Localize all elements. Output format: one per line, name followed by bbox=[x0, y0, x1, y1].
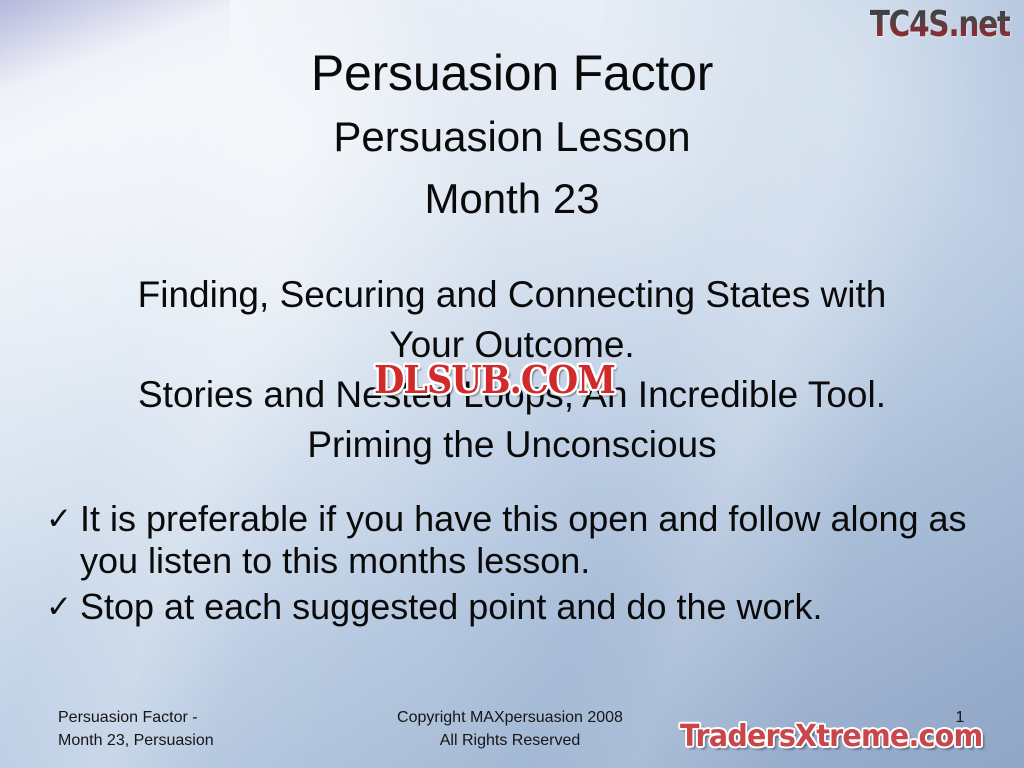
footer-copyright: Copyright MAXpersuasion 2008 All Rights … bbox=[330, 706, 690, 752]
list-item: ✓ It is preferable if you have this open… bbox=[46, 498, 996, 582]
list-item-label: It is preferable if you have this open a… bbox=[80, 498, 996, 582]
check-mark-icon: ✓ bbox=[46, 498, 80, 540]
title-line-3: Month 23 bbox=[0, 168, 1024, 230]
bullet-list: ✓ It is preferable if you have this open… bbox=[46, 498, 996, 632]
footer-left-line-2: Month 23, Persuasion bbox=[58, 729, 214, 752]
title-line-1: Persuasion Factor bbox=[0, 40, 1024, 106]
check-mark-icon: ✓ bbox=[46, 586, 80, 628]
tc4s-logo[interactable]: TC4S.net bbox=[870, 4, 1010, 46]
subtitle-line-1: Finding, Securing and Connecting States … bbox=[40, 270, 984, 320]
tradersxtreme-logo[interactable]: TradersXtreme.com bbox=[680, 720, 982, 754]
list-item: ✓ Stop at each suggested point and do th… bbox=[46, 586, 996, 628]
presentation-slide: TC4S.net Persuasion Factor Persuasion Le… bbox=[0, 0, 1024, 768]
footer-copyright-line-1: Copyright MAXpersuasion 2008 bbox=[330, 706, 690, 729]
subtitle-line-4: Priming the Unconscious bbox=[40, 420, 984, 470]
list-item-label: Stop at each suggested point and do the … bbox=[80, 586, 996, 628]
title-line-2: Persuasion Lesson bbox=[0, 106, 1024, 168]
footer-left-line-1: Persuasion Factor - bbox=[58, 706, 214, 729]
footer-left: Persuasion Factor - Month 23, Persuasion bbox=[58, 706, 214, 752]
footer-copyright-line-2: All Rights Reserved bbox=[330, 729, 690, 752]
dlsub-watermark: DLSUB.COM bbox=[374, 358, 615, 402]
slide-title-block: Persuasion Factor Persuasion Lesson Mont… bbox=[0, 40, 1024, 230]
slide-content: TC4S.net Persuasion Factor Persuasion Le… bbox=[0, 0, 1024, 768]
